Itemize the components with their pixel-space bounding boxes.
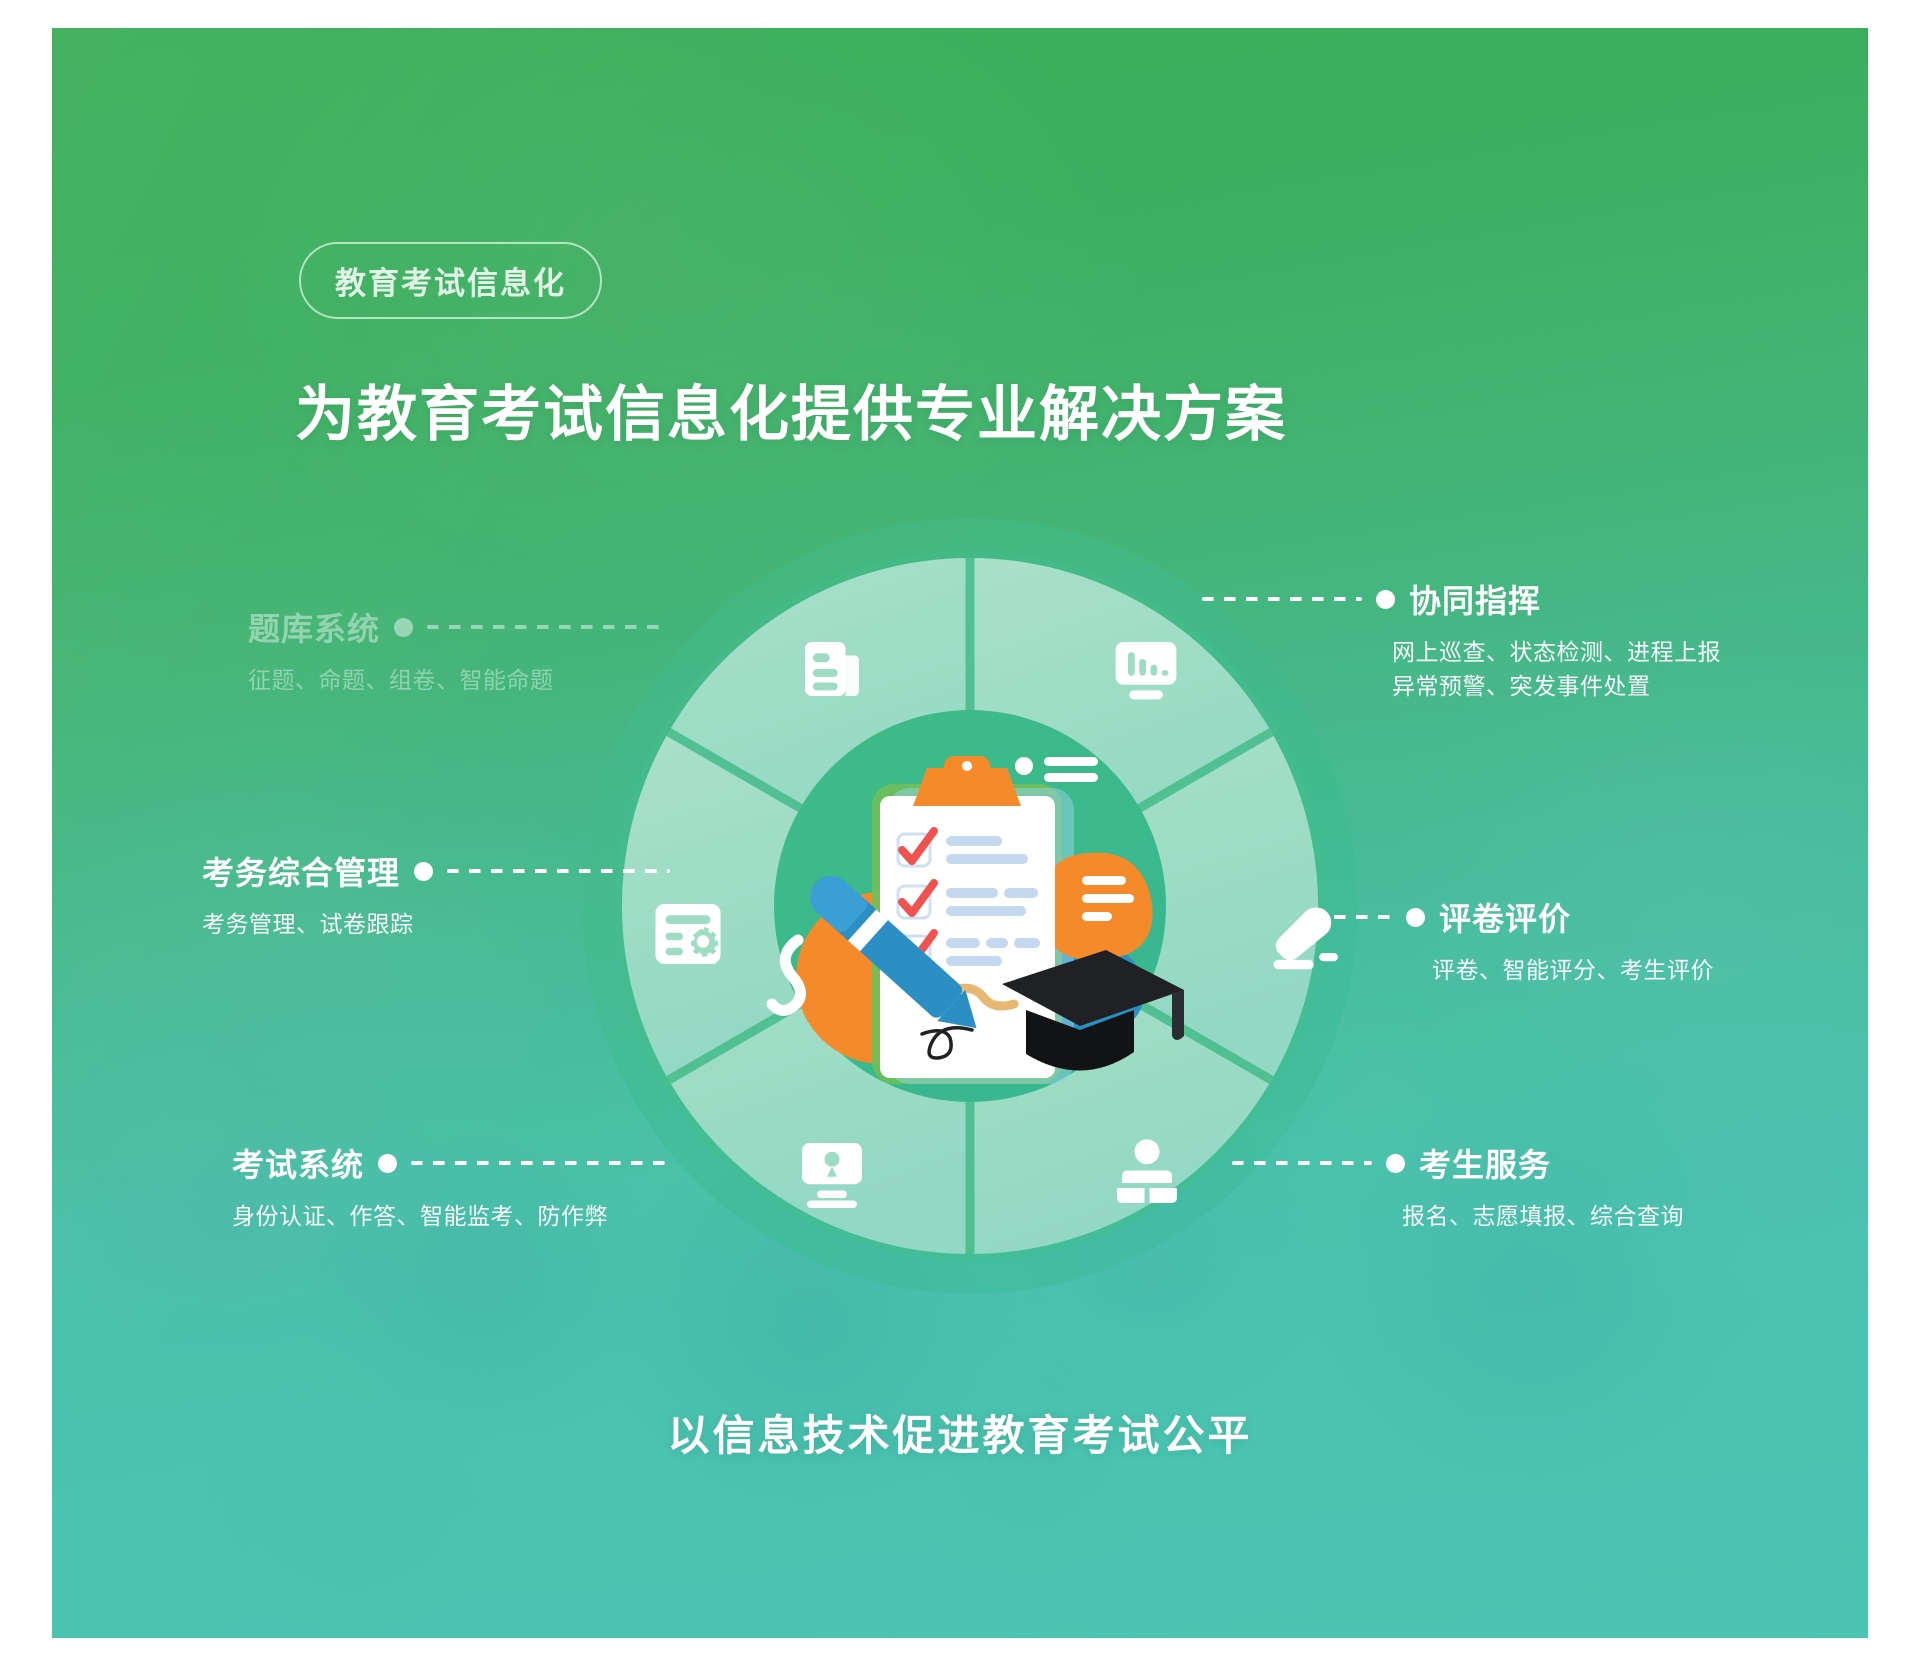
callout-exam-system[interactable]: 考试系统 身份认证、作答、智能监考、防作弊	[232, 1140, 672, 1236]
connector-line	[1202, 597, 1362, 601]
connector-dot	[378, 1154, 397, 1173]
category-badge-label: 教育考试信息化	[335, 266, 566, 301]
callout-exam-system-sub: 身份认证、作答、智能监考、防作弊	[232, 1196, 672, 1236]
callout-collab-command-head: 协同指挥	[1202, 576, 1842, 622]
exam-illustration	[752, 728, 1192, 1148]
connector-line	[447, 869, 670, 873]
connector-line	[427, 625, 668, 629]
promo-banner: 教育考试信息化 为教育考试信息化提供专业解决方案	[52, 28, 1868, 1638]
page-title: 为教育考试信息化提供专业解决方案	[295, 366, 1287, 453]
connector-line	[1312, 915, 1392, 919]
callout-exam-system-head: 考试系统	[232, 1140, 672, 1186]
connector-line	[1232, 1161, 1372, 1165]
callout-question-bank-head: 题库系统	[248, 604, 668, 650]
connector-line	[411, 1161, 672, 1165]
callout-candidate-service[interactable]: 考生服务 报名、志愿填报、综合查询	[1232, 1140, 1852, 1236]
category-badge: 教育考试信息化	[299, 242, 602, 319]
callout-grading-evaluation-head: 评卷评价	[1312, 894, 1842, 940]
callout-candidate-service-head: 考生服务	[1232, 1140, 1852, 1186]
callout-exam-admin-title: 考务综合管理	[202, 848, 400, 894]
banner-canvas: 教育考试信息化 为教育考试信息化提供专业解决方案	[0, 0, 1920, 1670]
callout-exam-admin[interactable]: 考务综合管理 考务管理、试卷跟踪	[202, 848, 670, 944]
connector-dot	[394, 618, 413, 637]
connector-dot	[1386, 1154, 1405, 1173]
callout-question-bank-title: 题库系统	[248, 604, 380, 650]
callout-collab-command-sub2: 异常预警、突发事件处置	[1392, 666, 1842, 706]
callout-grading-evaluation-sub: 评卷、智能评分、考生评价	[1432, 950, 1842, 990]
document-icon	[796, 633, 868, 705]
callout-collab-command-title: 协同指挥	[1409, 576, 1541, 622]
connector-dot	[1406, 908, 1425, 927]
callout-collab-command[interactable]: 协同指挥 网上巡查、状态检测、进程上报 异常预警、突发事件处置	[1202, 576, 1842, 706]
connector-dot	[1376, 590, 1395, 609]
callout-candidate-service-title: 考生服务	[1419, 1140, 1551, 1186]
connector-dot	[414, 862, 433, 881]
callout-question-bank[interactable]: 题库系统 征题、命题、组卷、智能命题	[248, 604, 668, 700]
callout-grading-evaluation[interactable]: 评卷评价 评卷、智能评分、考生评价	[1312, 894, 1842, 990]
callout-exam-admin-head: 考务综合管理	[202, 848, 670, 894]
callout-candidate-service-sub: 报名、志愿填报、综合查询	[1402, 1196, 1852, 1236]
callout-exam-admin-sub: 考务管理、试卷跟踪	[202, 904, 670, 944]
callout-exam-system-title: 考试系统	[232, 1140, 364, 1186]
monitor-chart-icon	[1110, 633, 1182, 705]
callout-grading-evaluation-title: 评卷评价	[1439, 894, 1571, 940]
callout-question-bank-sub: 征题、命题、组卷、智能命题	[248, 660, 668, 700]
footer-caption: 以信息技术促进教育考试公平	[52, 1402, 1868, 1463]
